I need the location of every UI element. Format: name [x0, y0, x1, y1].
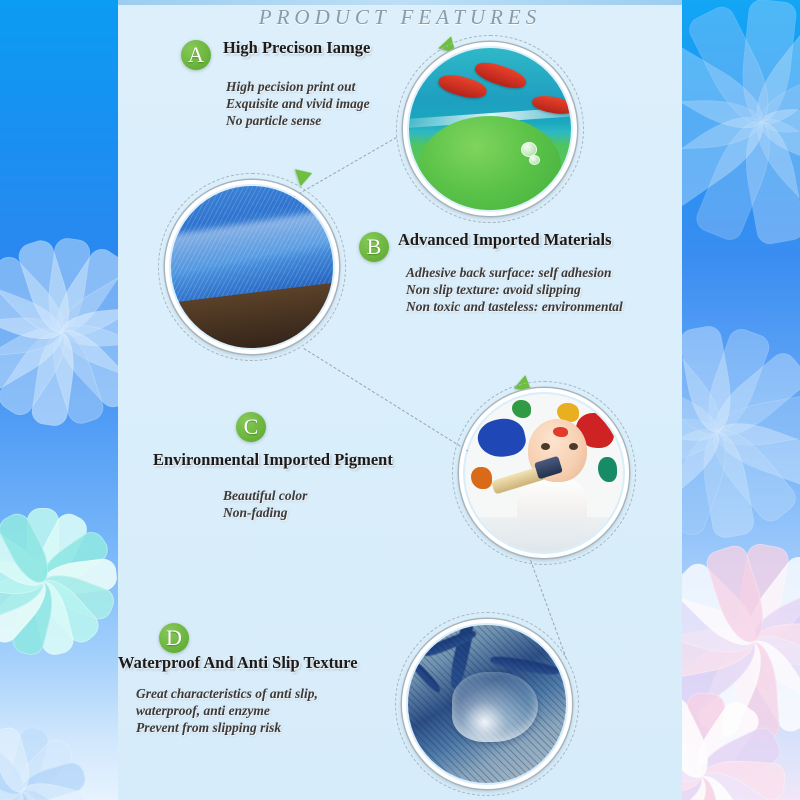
photo-d-wrapper — [408, 625, 566, 783]
left-decoration-strip — [0, 0, 118, 800]
baby-eye — [541, 443, 550, 450]
feature-badge-c: C — [236, 412, 266, 442]
feature-heading-c: Environmental Imported Pigment — [153, 450, 393, 470]
photo-a-wrapper — [409, 48, 571, 210]
paint-splatter — [512, 400, 531, 417]
feature-line: Adhesive back surface: self adhesion — [406, 264, 623, 281]
paint-splatter — [471, 467, 492, 489]
content-panel: PRODUCT FEATURES A High Precison Iamge H… — [118, 0, 682, 800]
lotus-leaf-shape — [419, 116, 562, 210]
feature-heading-b: Advanced Imported Materials — [398, 230, 612, 250]
feature-lines-b: Adhesive back surface: self adhesion Non… — [406, 264, 623, 315]
page-title: PRODUCT FEATURES — [118, 5, 682, 30]
water-droplet-shape — [452, 672, 537, 742]
feature-lines-d: Great characteristics of anti slip, wate… — [136, 685, 318, 736]
feature-line: Beautiful color — [223, 487, 307, 504]
feature-line: Prevent from slipping risk — [136, 719, 318, 736]
printed-koi-lotus-photo — [409, 48, 571, 210]
water-droplet-icon — [529, 155, 540, 165]
feature-line: Non-fading — [223, 504, 307, 521]
feature-badge-b: B — [359, 232, 389, 262]
arrow-to-photo-b — [295, 165, 315, 187]
feature-line: High pecision print out — [226, 78, 370, 95]
feature-badge-d: D — [159, 623, 189, 653]
product-features-poster: PRODUCT FEATURES A High Precison Iamge H… — [0, 0, 800, 800]
feature-line: No particle sense — [226, 112, 370, 129]
paint-splatter — [474, 415, 528, 462]
baby-painting-photo — [465, 394, 623, 552]
water-droplet-photo — [408, 625, 566, 783]
paint-dot-on-face — [553, 427, 567, 436]
feature-line: Non toxic and tasteless: environmental — [406, 298, 623, 315]
feature-line: Great characteristics of anti slip, — [136, 685, 318, 702]
photo-c-wrapper — [465, 394, 623, 552]
feature-line: waterproof, anti enzyme — [136, 702, 318, 719]
feature-heading-d: Waterproof And Anti Slip Texture — [118, 653, 358, 673]
feature-lines-c: Beautiful color Non-fading — [223, 487, 307, 521]
right-decoration-strip — [682, 0, 800, 800]
feature-line: Exquisite and vivid image — [226, 95, 370, 112]
paint-splatter — [598, 457, 617, 482]
photo-b-wrapper — [171, 186, 333, 348]
feature-heading-a: High Precison Iamge — [223, 38, 370, 58]
blue-fabric-photo — [171, 186, 333, 348]
feature-badge-a: A — [181, 40, 211, 70]
feature-line: Non slip texture: avoid slipping — [406, 281, 623, 298]
feature-lines-a: High pecision print out Exquisite and vi… — [226, 78, 370, 129]
paper-floor — [465, 517, 623, 552]
